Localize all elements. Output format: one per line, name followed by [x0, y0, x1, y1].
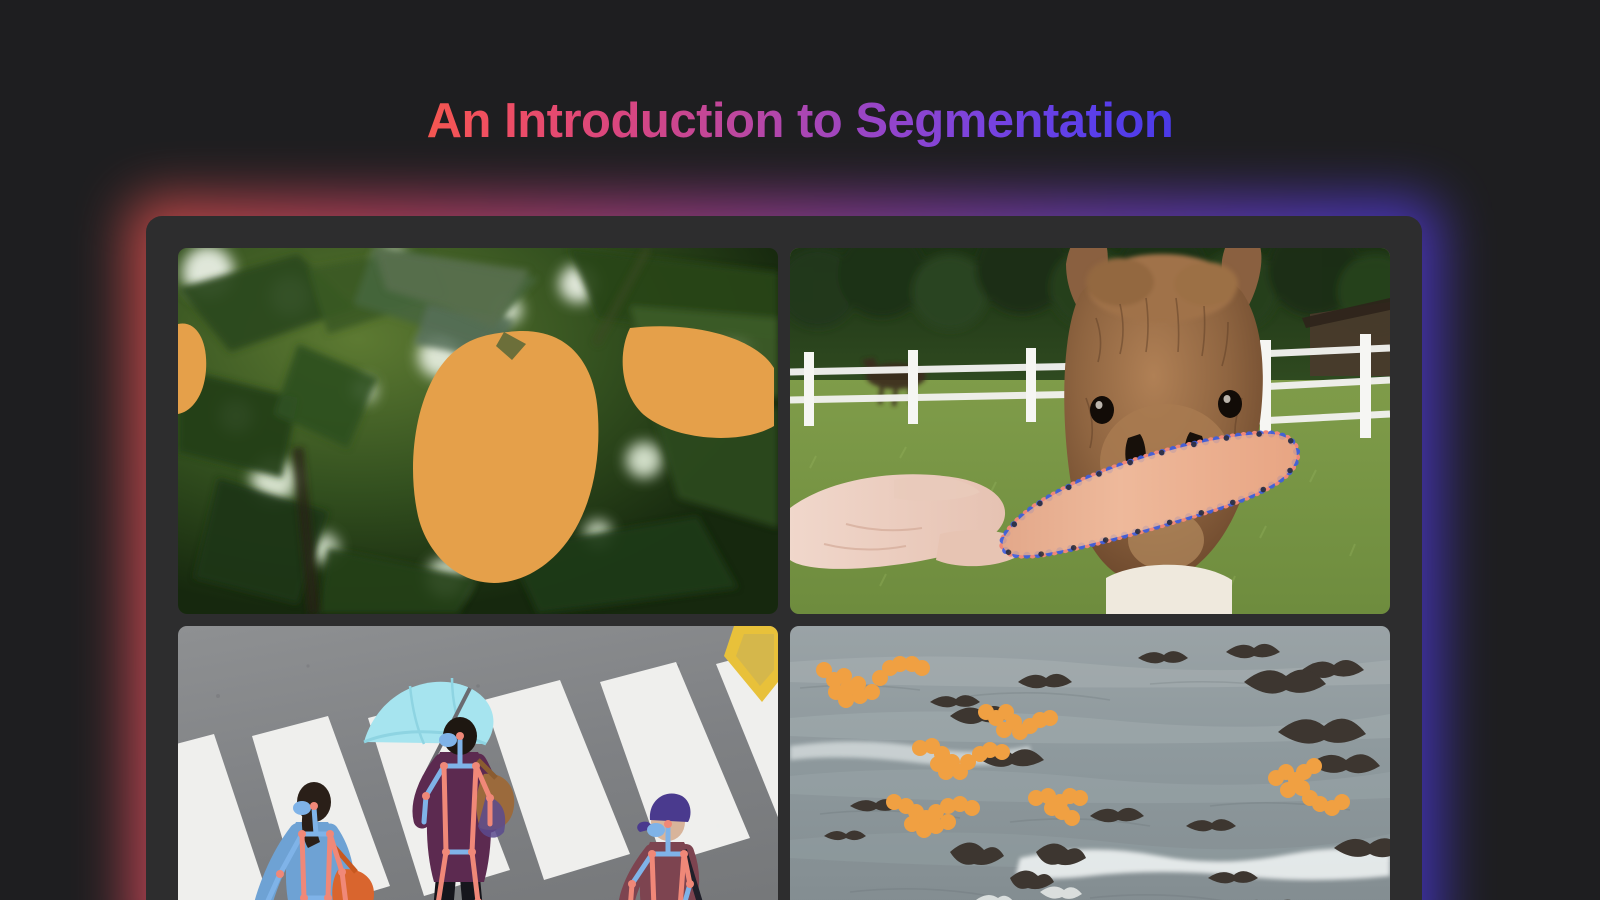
- tile-label-seabirds: Seabirds over ocean waves with point clu…: [790, 626, 791, 627]
- tile-label-llama: Llama being fed a carrot with polygon ou…: [790, 248, 791, 249]
- tile-label-oranges: Oranges on tree with instance segmentati…: [178, 248, 179, 249]
- llama-image: [790, 248, 1390, 614]
- page-title: An Introduction to Segmentation: [427, 96, 1174, 147]
- gallery-tile-llama[interactable]: Llama being fed a carrot with polygon ou…: [790, 248, 1390, 614]
- seabirds-image: [790, 626, 1390, 900]
- gallery-card: Oranges on tree with instance segmentati…: [146, 216, 1422, 900]
- gallery-tile-oranges[interactable]: Oranges on tree with instance segmentati…: [178, 248, 778, 614]
- page-header: An Introduction to Segmentation: [0, 0, 1600, 147]
- oranges-image: [178, 248, 778, 614]
- image-gallery-grid: Oranges on tree with instance segmentati…: [178, 248, 1390, 900]
- pedestrians-image: [178, 626, 778, 900]
- gallery-tile-pedestrians[interactable]: Pedestrians at crosswalk with human pose…: [178, 626, 778, 900]
- tile-label-pedestrians: Pedestrians at crosswalk with human pose…: [178, 626, 179, 627]
- gallery-tile-seabirds[interactable]: Seabirds over ocean waves with point clu…: [790, 626, 1390, 900]
